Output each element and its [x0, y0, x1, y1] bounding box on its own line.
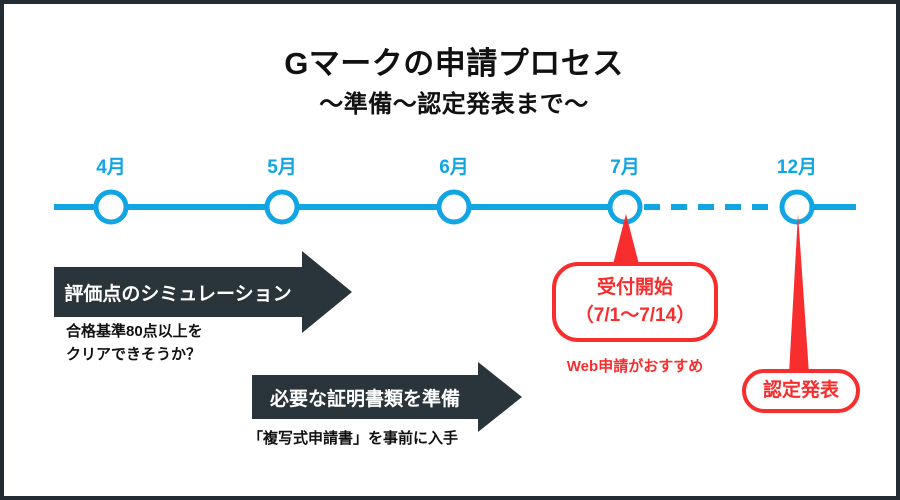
timeline-node-4gatsu[interactable] [96, 192, 126, 222]
caption-line: 「複写式申請書」を事前に入手 [248, 427, 458, 450]
page-subtitle: 〜準備〜認定発表まで〜 [4, 84, 900, 119]
arrow-label-documents: 必要な証明書類を準備 [252, 384, 478, 411]
callout-application-open[interactable]: 受付開始 （7/1〜7/14） [552, 262, 718, 342]
arrow-caption-documents: 「複写式申請書」を事前に入手 [248, 427, 458, 450]
callout-note-web-application: Web申請がおすすめ [552, 355, 718, 376]
caption-line: 合格基準80点以上を [66, 320, 203, 343]
timeline-label-12gatsu: 12月 [757, 152, 837, 179]
timeline-label-6gatsu: 6月 [414, 152, 494, 179]
callout-line: （7/1〜7/14） [575, 302, 695, 330]
page-title: Gマークの申請プロセス [4, 38, 900, 83]
caption-line: クリアできそうか？ [66, 343, 203, 366]
process-arrow-documents[interactable]: 必要な証明書類を準備 [252, 361, 524, 433]
callout-pointer-12gatsu [774, 214, 824, 376]
timeline-node-6gatsu[interactable] [439, 192, 469, 222]
timeline-label-4gatsu: 4月 [71, 152, 151, 179]
callout-line: 認定発表 [763, 379, 839, 403]
arrow-caption-simulation: 合格基準80点以上を クリアできそうか？ [66, 320, 203, 366]
infographic-canvas: Gマークの申請プロセス 〜準備〜認定発表まで〜 4月 5月 6月 7月 12月 … [0, 0, 900, 500]
timeline-label-5gatsu: 5月 [242, 152, 322, 179]
timeline-label-7gatsu: 7月 [585, 152, 665, 179]
timeline-node-5gatsu[interactable] [267, 192, 297, 222]
callout-certification-announcement[interactable]: 認定発表 [742, 369, 860, 413]
callout-line: 受付開始 [597, 274, 673, 302]
arrow-label-simulation: 評価点のシミュレーション [54, 279, 302, 306]
